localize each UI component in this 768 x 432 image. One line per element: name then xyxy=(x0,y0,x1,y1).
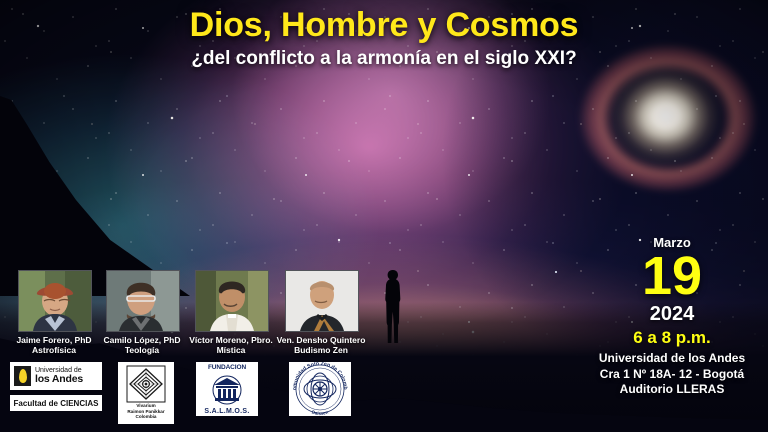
uniandes-line2: los Andes xyxy=(35,374,83,385)
speaker-name: Jaime Forero, PhD xyxy=(6,335,102,345)
uniandes-wordmark: Universidad de los Andes xyxy=(35,367,83,385)
sponsor-logo-row: Universidad de los Andes Facultad de CIE… xyxy=(6,362,358,430)
page-subtitle: ¿del conflicto a la armonía en el siglo … xyxy=(0,48,768,70)
temple-icon xyxy=(210,375,244,405)
page-title: Dios, Hombre y Cosmos xyxy=(0,6,768,45)
speaker-name: Ven. Densho Quintero xyxy=(273,335,369,345)
event-time: 6 a 8 p.m. xyxy=(582,329,762,346)
speaker-name: Víctor Moreno, Pbro. xyxy=(183,335,279,345)
event-room: Auditorio LLERAS xyxy=(582,382,762,398)
avatar xyxy=(195,270,269,332)
vivarium-logo: Vivarium Raimon Panikkar Colombia xyxy=(118,362,174,424)
uniandes-logo: Universidad de los Andes Facultad de CIE… xyxy=(10,362,102,411)
faculty-banner: Facultad de CIENCIAS xyxy=(10,395,102,411)
speaker-topic: Budismo Zen xyxy=(273,345,369,355)
list-item: Víctor Moreno, Pbro. Mística xyxy=(195,270,279,355)
event-poster: Dios, Hombre y Cosmos ¿del conflicto a l… xyxy=(0,0,768,432)
person-silhouette-icon xyxy=(380,268,406,344)
event-details: Marzo 19 2024 6 a 8 p.m. Universidad de … xyxy=(582,236,762,398)
speaker-topic: Teología xyxy=(94,345,190,355)
speaker-topic: Astrofísica xyxy=(6,345,102,355)
event-day: 19 xyxy=(582,251,762,303)
speaker-list: Jaime Forero, PhD Astrofísica Camilo Lóp… xyxy=(6,270,358,362)
speaker-name: Camilo López, PhD xyxy=(94,335,190,345)
avatar xyxy=(285,270,359,332)
list-item: Jaime Forero, PhD Astrofísica xyxy=(18,270,102,355)
salmos-wordmark: FUNDACION xyxy=(208,364,246,371)
event-venue: Universidad de los Andes xyxy=(582,351,762,367)
list-item: Ven. Densho Quintero Budismo Zen xyxy=(285,270,369,355)
dharma-wheel-icon: Comunidad Soto Zen de Colombia Daissen xyxy=(289,362,351,416)
soto-zen-logo: Comunidad Soto Zen de Colombia Daissen xyxy=(289,362,351,416)
uniandes-logo-mark: Universidad de los Andes xyxy=(10,362,102,390)
mandala-icon xyxy=(126,365,166,403)
speaker-topic: Mística xyxy=(183,345,279,355)
vivarium-line3: Colombia xyxy=(136,414,157,420)
event-address: Cra 1 Nº 18A- 12 - Bogotá xyxy=(582,367,762,383)
salmos-acronym: S.A.L.M.O.S. xyxy=(204,408,249,415)
shield-icon xyxy=(14,366,31,386)
salmos-logo: FUNDACION S.A.L.M.O.S. xyxy=(196,362,258,416)
list-item: Camilo López, PhD Teología xyxy=(106,270,190,355)
avatar xyxy=(106,270,180,332)
event-address-block: Universidad de los Andes Cra 1 Nº 18A- 1… xyxy=(582,351,762,398)
avatar xyxy=(18,270,92,332)
event-year: 2024 xyxy=(582,304,762,324)
